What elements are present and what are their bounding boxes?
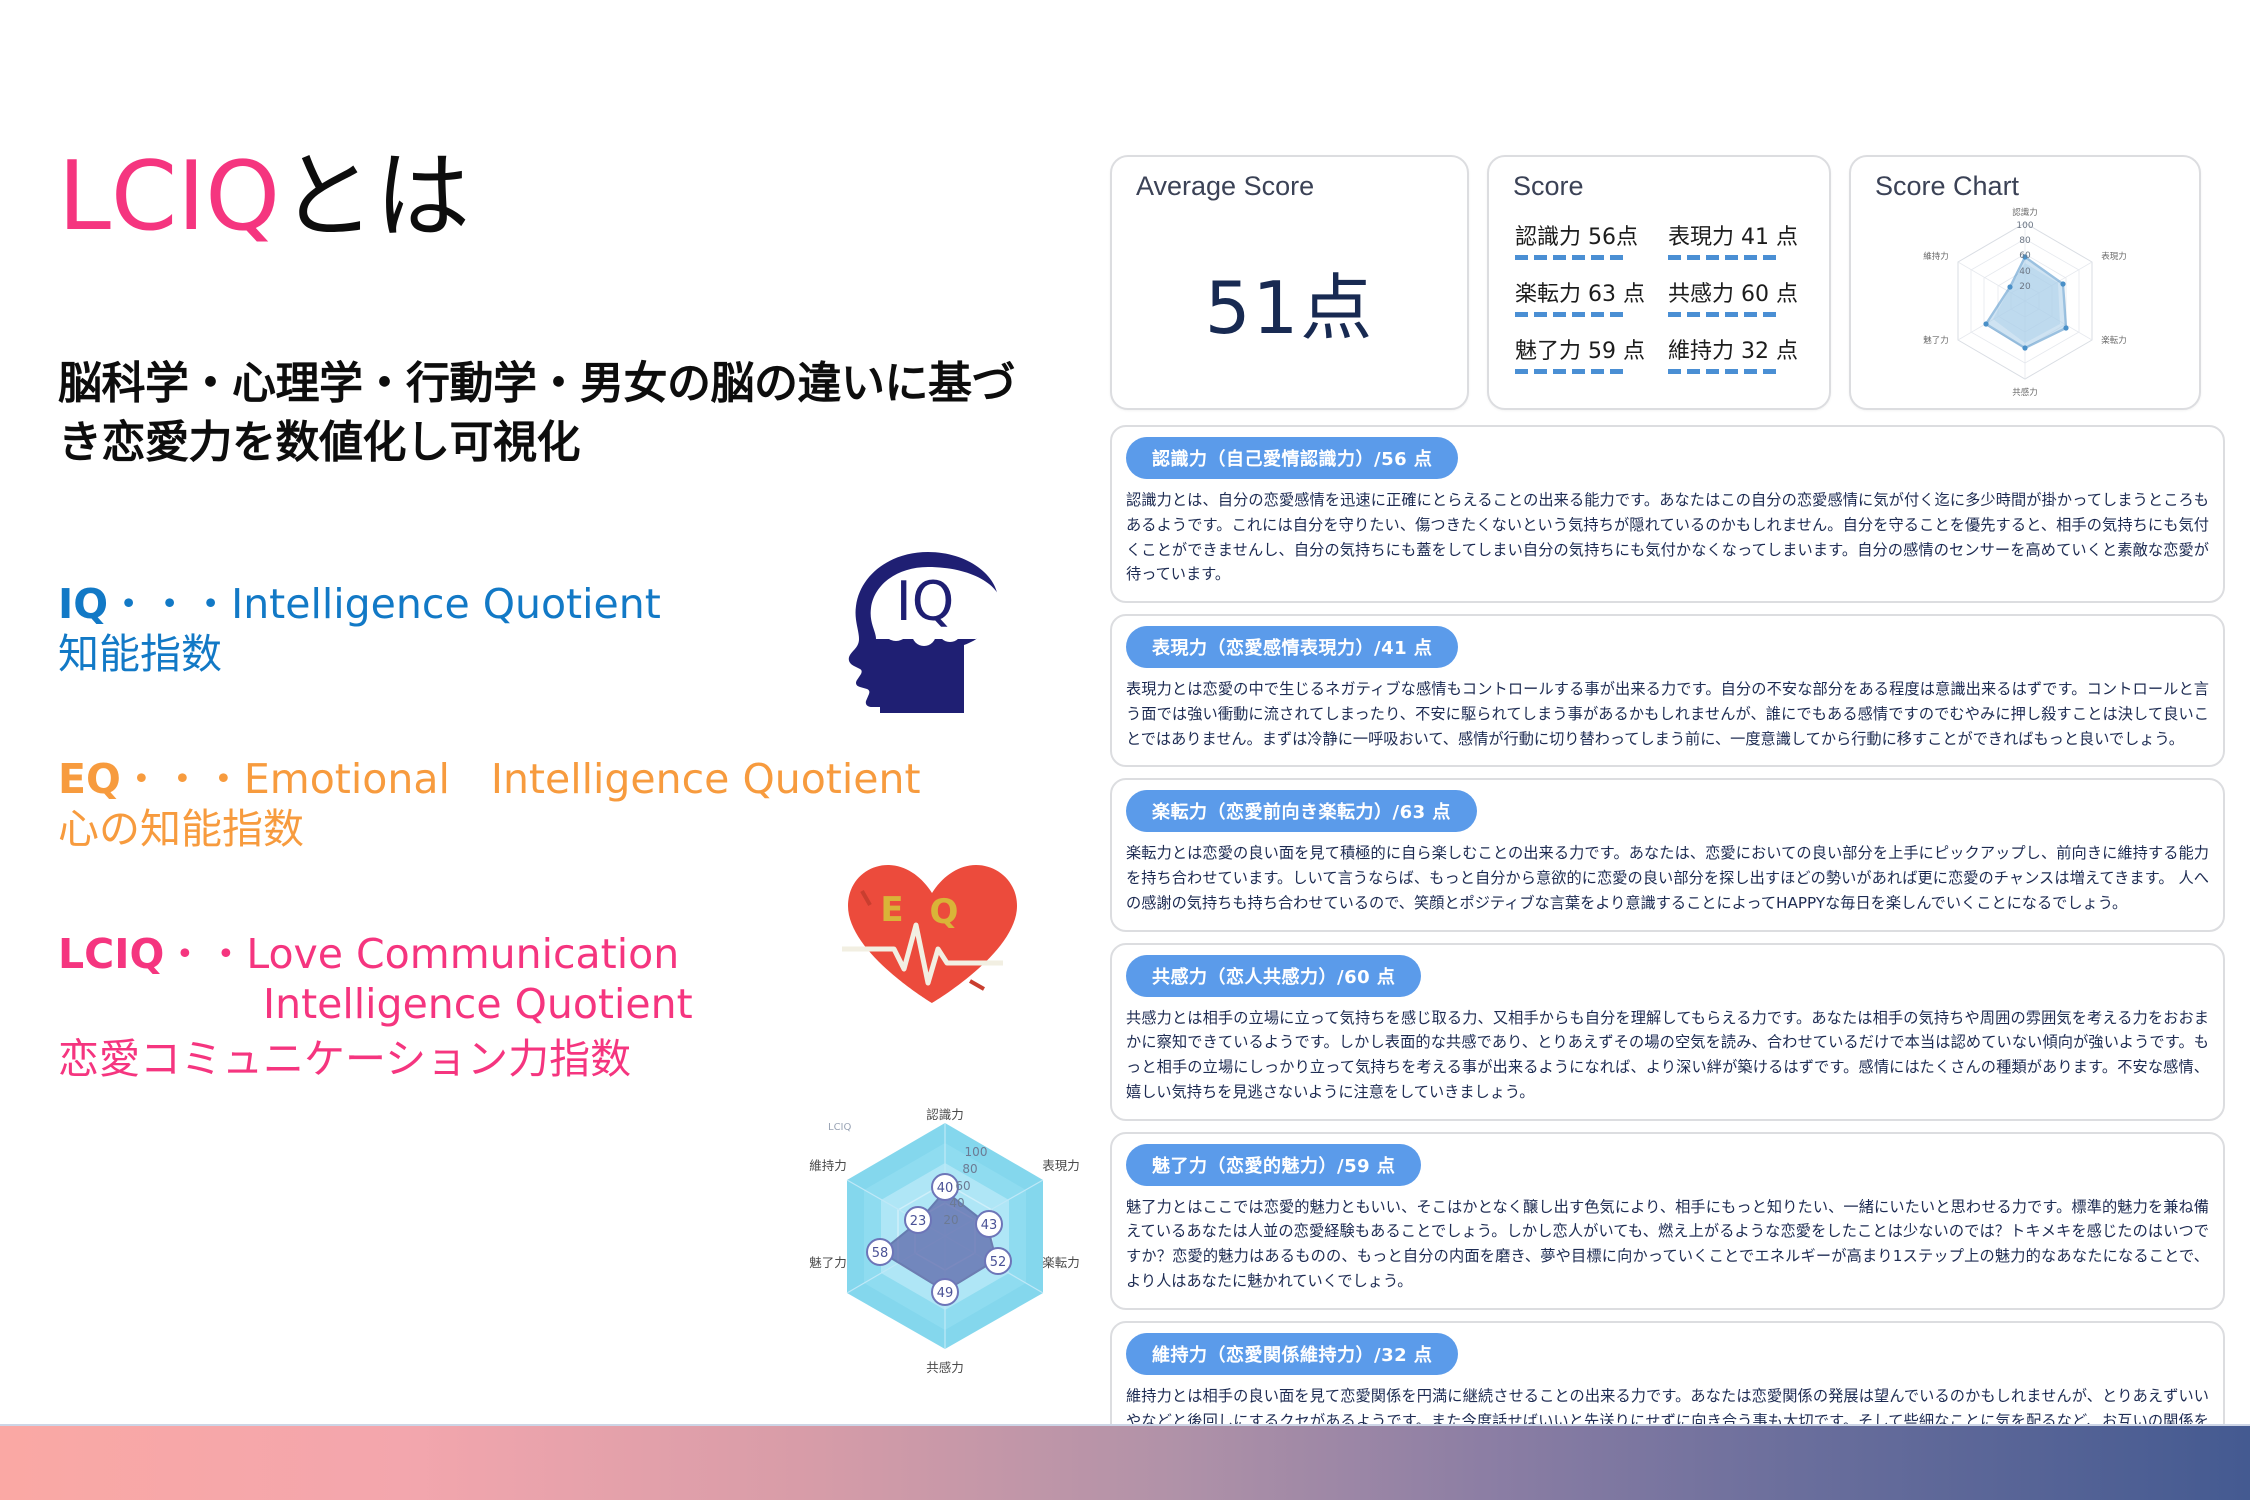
svg-text:100: 100: [965, 1145, 988, 1159]
svg-text:共感力: 共感力: [926, 1360, 964, 1375]
definition-lciq-english-line2: Intelligence Quotient: [58, 978, 693, 1031]
svg-text:49: 49: [937, 1286, 954, 1301]
svg-text:40: 40: [2019, 267, 2031, 277]
svg-text:58: 58: [872, 1246, 889, 1261]
detail-body: 表現力とは恋愛の中で生じるネガティブな感情もコントロールする事が出来る力です。自…: [1126, 677, 2209, 751]
detail-sections: 認識力（自己愛情認識力）/56 点 認識力とは、自分の恋愛感情を迅速に正確にとら…: [1110, 425, 2225, 1510]
svg-text:維持力: 維持力: [809, 1158, 847, 1173]
svg-text:40: 40: [937, 1181, 954, 1196]
svg-text:楽転力: 楽転力: [1042, 1255, 1080, 1270]
score-item: 魅了力 59 点: [1515, 333, 1662, 374]
svg-text:表現力: 表現力: [1042, 1158, 1080, 1173]
score-item-bar: [1515, 369, 1627, 374]
detail-pill-badge: 魅了力（恋愛的魅力）/59 点: [1126, 1144, 1421, 1186]
definition-eq-dots: ・・・: [121, 755, 244, 803]
score-item-value: 63 点: [1588, 282, 1645, 307]
svg-text:魅了力: 魅了力: [1923, 335, 1949, 346]
card-score: Score 認識力 56点 表現力 41 点 楽転力 63 点: [1487, 155, 1831, 410]
report-panel: Average Score 51点 Score 認識力 56点 表現力 41 点: [1110, 155, 2225, 1335]
svg-text:維持力: 維持力: [1923, 251, 1949, 262]
detail-section: 魅了力（恋愛的魅力）/59 点 魅了力とはここでは恋愛的魅力ともいい、そこはかと…: [1110, 1132, 2225, 1310]
score-item-value: 56点: [1588, 225, 1638, 250]
footer-gradient-band: [0, 1426, 2250, 1500]
card-average-score-title: Average Score: [1136, 171, 1314, 202]
detail-section: 表現力（恋愛感情表現力）/41 点 表現力とは恋愛の中で生じるネガティブな感情も…: [1110, 614, 2225, 767]
score-item-bar: [1668, 255, 1780, 260]
svg-text:80: 80: [962, 1162, 977, 1176]
score-item-label: 共感力: [1668, 282, 1734, 307]
svg-text:60: 60: [2019, 251, 2031, 261]
slide-root: LCIQとは 脳科学・心理学・行動学・男女の脳の違いに基づき恋愛力を数値化し可視…: [0, 0, 2250, 1500]
detail-pill-badge: 維持力（恋愛関係維持力）/32 点: [1126, 1333, 1458, 1375]
svg-text:43: 43: [981, 1218, 998, 1233]
svg-text:60: 60: [955, 1179, 970, 1193]
score-item-label: 維持力: [1668, 339, 1734, 364]
definition-eq-abbr: EQ: [58, 755, 121, 803]
score-item-label: 表現力: [1668, 225, 1734, 250]
score-item-bar: [1515, 312, 1627, 317]
score-item-value: 32 点: [1741, 339, 1798, 364]
score-item-label: 楽転力: [1515, 282, 1581, 307]
page-subtitle: 脳科学・心理学・行動学・男女の脳の違いに基づき恋愛力を数値化し可視化: [58, 355, 1038, 472]
average-score-value: 51点: [1112, 249, 1467, 354]
score-item-value: 41 点: [1741, 225, 1798, 250]
svg-text:共感力: 共感力: [2012, 387, 2038, 398]
svg-text:20: 20: [2019, 282, 2031, 292]
left-column: LCIQとは 脳科学・心理学・行動学・男女の脳の違いに基づき恋愛力を数値化し可視…: [0, 0, 1100, 1420]
definition-eq-japanese: 心の知能指数: [58, 803, 921, 856]
svg-text:楽転力: 楽転力: [2101, 335, 2127, 346]
brain-iq-icon: IQ: [832, 548, 1012, 713]
detail-pill-badge: 共感力（恋人共感力）/60 点: [1126, 955, 1421, 997]
score-item-label: 魅了力: [1515, 339, 1581, 364]
definition-iq-dots: ・・・: [108, 580, 231, 628]
card-average-score: Average Score 51点: [1110, 155, 1469, 410]
radar-chart-icon: 40 43 52 49 58 23 100 80 60: [790, 1085, 1100, 1390]
svg-text:40: 40: [949, 1196, 964, 1210]
score-item: 維持力 32 点: [1668, 333, 1815, 374]
score-item-bar: [1515, 255, 1627, 260]
score-item-value: 60 点: [1741, 282, 1798, 307]
svg-text:100: 100: [2016, 221, 2033, 231]
score-item-bar: [1668, 369, 1780, 374]
detail-body: 楽転力とは恋愛の良い面を見て積極的に自ら楽しむことの出来る力です。あなたは、恋愛…: [1126, 841, 2209, 915]
detail-body: 共感力とは相手の立場に立って気持ちを感じ取る力、又相手からも自分を理解してもらえ…: [1126, 1006, 2209, 1105]
detail-pill-badge: 認識力（自己愛情認識力）/56 点: [1126, 437, 1458, 479]
definition-lciq: LCIQ・・Love Communication Intelligence Qu…: [58, 930, 693, 1087]
card-score-chart: Score Chart: [1849, 155, 2201, 410]
svg-text:魅了力: 魅了力: [809, 1255, 847, 1270]
definition-iq-english: Intelligence Quotient: [231, 580, 661, 628]
svg-text:LCIQ: LCIQ: [828, 1122, 852, 1133]
detail-section: 楽転力（恋愛前向き楽転力）/63 点 楽転力とは恋愛の良い面を見て積極的に自ら楽…: [1110, 778, 2225, 931]
score-item: 共感力 60 点: [1668, 276, 1815, 317]
svg-text:80: 80: [2019, 236, 2031, 246]
score-item: 表現力 41 点: [1668, 219, 1815, 260]
svg-text:Q: Q: [930, 892, 959, 932]
detail-pill-badge: 表現力（恋愛感情表現力）/41 点: [1126, 626, 1458, 668]
score-item-value: 59 点: [1588, 339, 1645, 364]
definition-iq: IQ・・・Intelligence Quotient 知能指数: [58, 580, 661, 682]
svg-text:認識力: 認識力: [926, 1107, 964, 1122]
svg-text:認識力: 認識力: [2012, 207, 2038, 218]
score-item: 認識力 56点: [1515, 219, 1662, 260]
score-radar-chart: 100 80 60 40 20 認識力 表現力 楽転力 共感力 魅了力: [1885, 201, 2165, 401]
score-item: 楽転力 63 点: [1515, 276, 1662, 317]
score-item-label: 認識力: [1515, 225, 1581, 250]
summary-cards-row: Average Score 51点 Score 認識力 56点 表現力 41 点: [1110, 155, 2225, 410]
detail-body: 魅了力とはここでは恋愛的魅力ともいい、そこはかとなく醸し出す色気により、相手にも…: [1126, 1195, 2209, 1294]
definition-lciq-japanese: 恋愛コミュニケーション力指数: [58, 1032, 693, 1087]
page-title: LCIQとは: [58, 150, 470, 245]
page-title-suffix: とは: [280, 142, 470, 252]
page-title-brand: LCIQ: [58, 142, 280, 252]
svg-text:23: 23: [910, 1214, 927, 1229]
definition-lciq-english: Love Communication: [246, 930, 679, 978]
detail-section: 認識力（自己愛情認識力）/56 点 認識力とは、自分の恋愛感情を迅速に正確にとら…: [1110, 425, 2225, 603]
detail-section: 共感力（恋人共感力）/60 点 共感力とは相手の立場に立って気持ちを感じ取る力、…: [1110, 943, 2225, 1121]
definition-iq-abbr: IQ: [58, 580, 108, 628]
detail-body: 認識力とは、自分の恋愛感情を迅速に正確にとらえることの出来る能力です。あなたはこ…: [1126, 488, 2209, 587]
definition-eq-english: Emotional Intelligence Quotient: [244, 755, 921, 803]
definition-lciq-dots: ・・: [164, 930, 246, 978]
heart-eq-icon: E Q: [840, 855, 1025, 1005]
card-score-title: Score: [1513, 171, 1584, 202]
score-item-bar: [1668, 312, 1780, 317]
svg-text:IQ: IQ: [896, 570, 954, 633]
score-grid: 認識力 56点 表現力 41 点 楽転力 63 点: [1515, 219, 1815, 374]
definition-lciq-abbr: LCIQ: [58, 930, 164, 978]
detail-pill-badge: 楽転力（恋愛前向き楽転力）/63 点: [1126, 790, 1477, 832]
definition-eq: EQ・・・Emotional Intelligence Quotient 心の知…: [58, 755, 921, 857]
definition-iq-japanese: 知能指数: [58, 628, 661, 681]
svg-text:20: 20: [943, 1213, 958, 1227]
svg-text:E: E: [880, 890, 903, 930]
card-score-chart-title: Score Chart: [1875, 171, 2019, 202]
svg-text:52: 52: [990, 1255, 1007, 1270]
svg-text:表現力: 表現力: [2101, 251, 2127, 262]
